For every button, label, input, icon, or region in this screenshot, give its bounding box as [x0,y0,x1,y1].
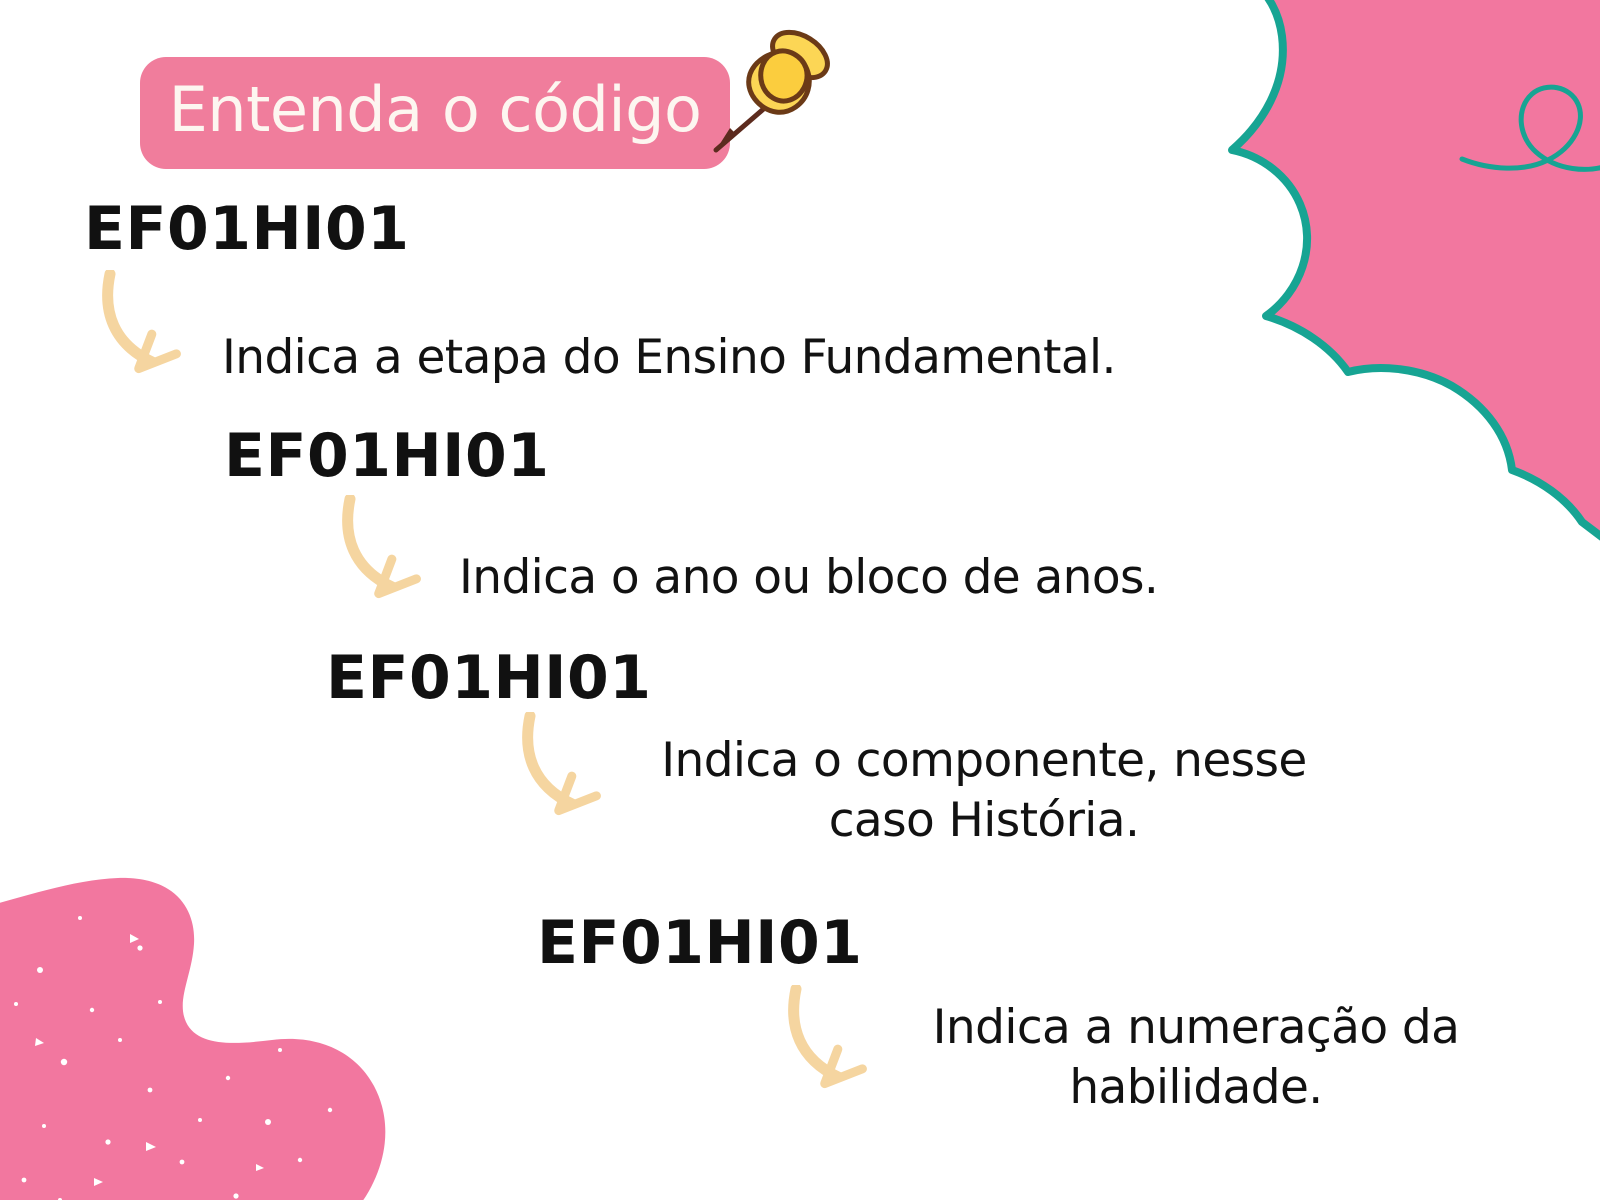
bottom-left-blob-shape [0,878,385,1200]
description-text-3: Indica o componente, nesse caso História… [628,731,1340,851]
code-label-2: EF01HI01 [224,426,550,486]
description-text-1: Indica a etapa do Ensino Fundamental. [222,328,1116,388]
top-right-blob-shape [1186,0,1600,566]
code-label-1: EF01HI01 [84,199,410,259]
code-label-4: EF01HI01 [537,913,863,973]
description-text-4: Indica a numeração da habilidade. [900,998,1492,1118]
infographic-canvas: Entenda o código EF01HI01 Indica a etapa… [0,0,1600,1200]
page-title: Entenda o código [169,79,702,141]
pushpin-icon [694,18,844,168]
description-text-2: Indica o ano ou bloco de anos. [459,548,1158,608]
title-banner: Entenda o código [140,57,730,169]
code-label-3: EF01HI01 [326,648,652,708]
teal-swirl-line [1462,87,1600,169]
